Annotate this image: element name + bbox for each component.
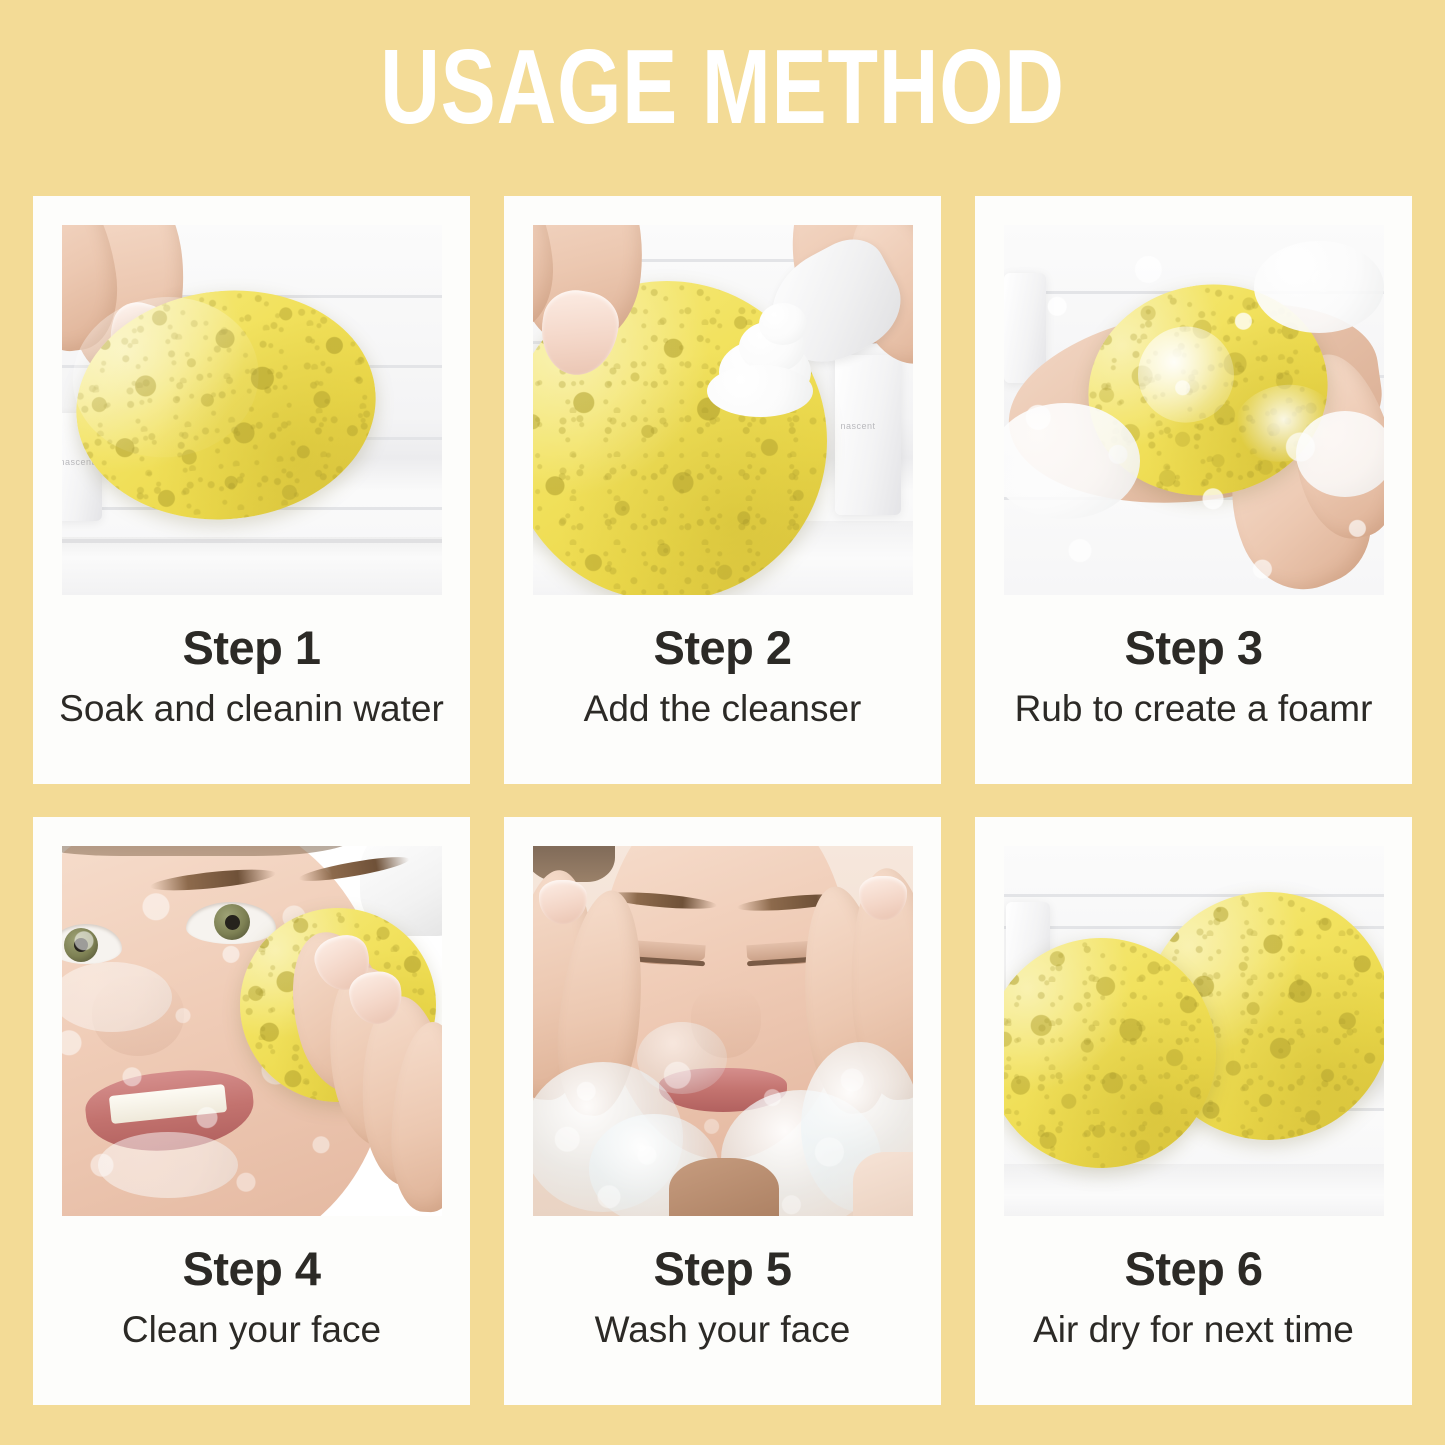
step-photo-5 — [533, 846, 913, 1216]
step-card-4[interactable]: Step 4 Clean your face — [33, 817, 470, 1405]
step-title: Step 4 — [182, 1245, 320, 1292]
step-card-2[interactable]: nascent S — [504, 196, 941, 784]
step-photo-4 — [62, 846, 442, 1216]
step-caption: Soak and cleanin water — [59, 690, 444, 727]
step-card-5[interactable]: Step 5 Wash your face — [504, 817, 941, 1405]
step-caption: Wash your face — [595, 1311, 851, 1348]
steps-grid: nascent Step 1 Soak and cleanin water — [33, 196, 1412, 1405]
step-card-6[interactable]: Step 6 Air dry for next time — [975, 817, 1412, 1405]
step-caption: Clean your face — [122, 1311, 381, 1348]
step-card-1[interactable]: nascent Step 1 Soak and cleanin water — [33, 196, 470, 784]
step-card-3[interactable]: Step 3 Rub to create a foamr — [975, 196, 1412, 784]
step-caption: Add the cleanser — [584, 690, 862, 727]
step-caption: Rub to create a foamr — [1015, 690, 1373, 727]
page-title: USAGE METHOD — [159, 34, 1286, 140]
step-photo-3 — [1004, 225, 1384, 595]
step-title: Step 6 — [1124, 1245, 1262, 1292]
step-title: Step 3 — [1124, 624, 1262, 671]
step-photo-1: nascent — [62, 225, 442, 595]
product-bottle-icon — [835, 355, 901, 515]
step-photo-6 — [1004, 846, 1384, 1216]
step-title: Step 2 — [653, 624, 791, 671]
step-caption: Air dry for next time — [1033, 1311, 1354, 1348]
step-title: Step 5 — [653, 1245, 791, 1292]
step-photo-2: nascent — [533, 225, 913, 595]
step-title: Step 1 — [182, 624, 320, 671]
